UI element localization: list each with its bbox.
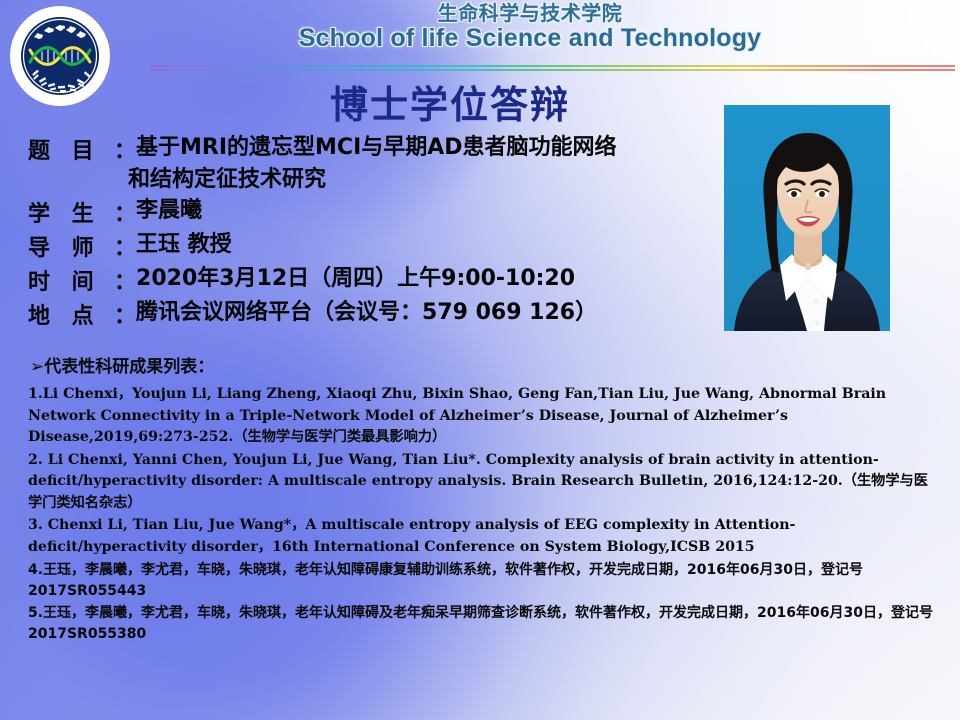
info-row-advisor: 导 师 ： 王珏 教授 [28, 230, 728, 262]
student-portrait-photo [724, 105, 890, 331]
info-colon-advisor: ： [114, 230, 136, 262]
achievement-item: 5.王珏，李晨曦，李尤君，车晓，朱晓琪，老年认知障碍及老年痴呆早期筛查诊断系统，… [28, 603, 934, 646]
school-emblem-logo [8, 4, 112, 108]
info-value-title-line2: 和结构定征技术研究 [128, 165, 326, 194]
page-title: 博士学位答辩 [180, 74, 720, 129]
info-row-title: 题 目 ： 基于MRI的遗忘型MCI与早期AD患者脑功能网络 [28, 133, 728, 165]
info-row-title-line2: 和结构定征技术研究 [28, 165, 728, 194]
divider-line-bottom [150, 69, 955, 71]
info-value-time: 2020年3月12日（周四）上午9:00-10:20 [136, 264, 575, 293]
divider-line-top [150, 65, 955, 67]
achievement-item: 2. Li Chenxi, Yanni Chen, Youjun Li, Jue… [28, 450, 934, 515]
info-value-advisor: 王珏 教授 [136, 230, 232, 259]
presentation-slide: 生命科学与技术学院 School of life Science and Tec… [0, 0, 960, 720]
school-header: 生命科学与技术学院 School of life Science and Tec… [180, 4, 880, 52]
info-colon-location: ： [114, 298, 136, 330]
info-value-student: 李晨曦 [136, 196, 202, 225]
info-colon-student: ： [114, 196, 136, 228]
info-row-location: 地 点 ： 腾讯会议网络平台（会议号：579 069 126） [28, 298, 728, 330]
info-label-advisor: 导 师 [28, 230, 114, 262]
info-row-time: 时 间 ： 2020年3月12日（周四）上午9:00-10:20 [28, 264, 728, 296]
info-label-location: 地 点 [28, 298, 114, 330]
achievement-item: 4.王珏，李晨曦，李尤君，车晓，朱晓琪，老年认知障碍康复辅助训练系统，软件著作权… [28, 560, 934, 603]
info-row-student: 学 生 ： 李晨曦 [28, 196, 728, 228]
info-colon-title: ： [114, 133, 136, 165]
info-value-location: 腾讯会议网络平台（会议号：579 069 126） [136, 298, 597, 327]
info-label-time: 时 间 [28, 264, 114, 296]
achievements-list: 1.Li Chenxi，Youjun Li, Liang Zheng, Xiao… [28, 384, 934, 647]
achievement-item: 1.Li Chenxi，Youjun Li, Liang Zheng, Xiao… [28, 384, 934, 449]
info-value-title: 基于MRI的遗忘型MCI与早期AD患者脑功能网络 [136, 133, 617, 162]
achievement-item: 3. Chenxi Li, Tian Liu, Jue Wang*，A mult… [28, 515, 934, 558]
info-label-title: 题 目 [28, 133, 114, 165]
achievements-heading: ➢代表性科研成果列表： [30, 352, 214, 377]
school-name-en: School of life Science and Technology [180, 26, 880, 52]
info-colon-time: ： [114, 264, 136, 296]
rainbow-divider-icon [150, 64, 955, 74]
school-name-cn: 生命科学与技术学院 [180, 4, 880, 24]
defense-info-block: 题 目 ： 基于MRI的遗忘型MCI与早期AD患者脑功能网络 和结构定征技术研究… [28, 133, 728, 332]
info-label-student: 学 生 [28, 196, 114, 228]
